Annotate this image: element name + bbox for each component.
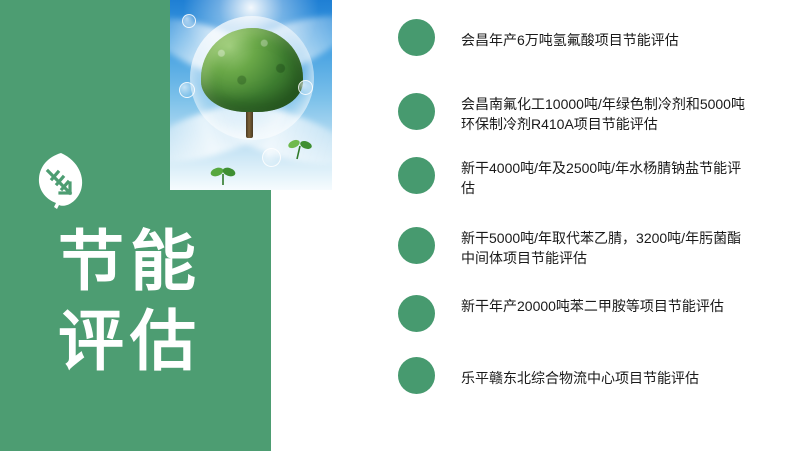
list-item[interactable]: 新干4000吨/年及2500吨/年水杨腈钠盐节能评估 xyxy=(398,157,800,198)
sprout-icon xyxy=(210,162,236,186)
list-item[interactable]: 新干5000吨/年取代苯乙腈，3200吨/年肟菌酯中间体项目节能评估 xyxy=(398,227,800,268)
page-title: 节能 评估 xyxy=(58,222,268,380)
list-item-label: 会昌年产6万吨氢氟酸项目节能评估 xyxy=(461,30,679,50)
bullet-dot-icon xyxy=(398,93,435,130)
bubble-icon xyxy=(179,82,195,98)
list-item[interactable]: 乐平赣东北综合物流中心项目节能评估 xyxy=(398,357,800,394)
list-item-label: 会昌南氟化工10000吨/年绿色制冷剂和5000吨环保制冷剂R410A项目节能评… xyxy=(461,94,751,134)
hero-image xyxy=(170,0,332,190)
list-item-label: 新干4000吨/年及2500吨/年水杨腈钠盐节能评估 xyxy=(461,158,751,198)
title-line-2: 评估 xyxy=(58,302,268,380)
bullet-dot-icon xyxy=(398,357,435,394)
list-item[interactable]: 新干年产20000吨苯二甲胺等项目节能评估 xyxy=(398,295,800,332)
list-item-label: 新干5000吨/年取代苯乙腈，3200吨/年肟菌酯中间体项目节能评估 xyxy=(461,228,751,268)
bullet-dot-icon xyxy=(398,157,435,194)
project-list: 会昌年产6万吨氢氟酸项目节能评估 会昌南氟化工10000吨/年绿色制冷剂和500… xyxy=(398,0,800,451)
bullet-dot-icon xyxy=(398,227,435,264)
bullet-dot-icon xyxy=(398,295,435,332)
bubble-icon xyxy=(298,80,313,95)
bubble-icon xyxy=(262,148,281,167)
sprout-icon xyxy=(286,136,312,160)
title-line-1: 节能 xyxy=(58,222,268,300)
presentation-slide: 节能 评估 xyxy=(0,0,800,451)
bubble-icon xyxy=(182,14,196,28)
list-item-label: 乐平赣东北综合物流中心项目节能评估 xyxy=(461,368,699,388)
list-item[interactable]: 会昌南氟化工10000吨/年绿色制冷剂和5000吨环保制冷剂R410A项目节能评… xyxy=(398,93,800,134)
bullet-dot-icon xyxy=(398,19,435,56)
list-item-label: 新干年产20000吨苯二甲胺等项目节能评估 xyxy=(461,296,724,316)
leaf-icon xyxy=(35,152,87,214)
list-item[interactable]: 会昌年产6万吨氢氟酸项目节能评估 xyxy=(398,19,800,56)
